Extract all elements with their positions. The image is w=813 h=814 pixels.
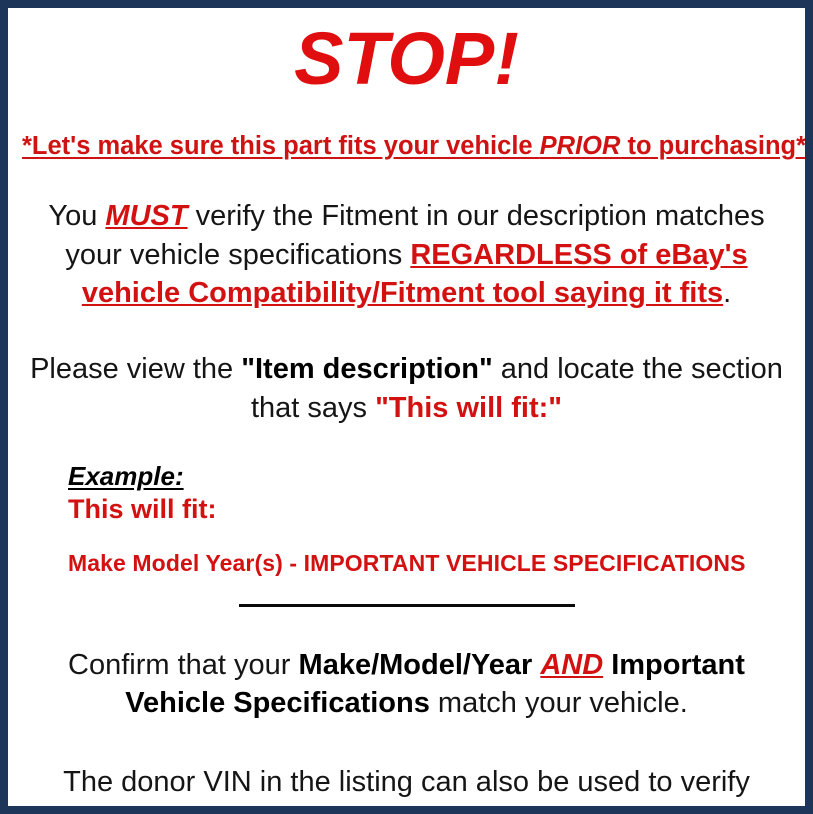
notice-content: STOP! *Let's make sure this part fits yo…	[8, 22, 805, 814]
paragraph-confirm-match: Confirm that your Make/Model/Year AND Im…	[22, 646, 791, 723]
confirm-text-4: match your vehicle.	[430, 687, 688, 719]
view-text-1: Please view the	[30, 353, 241, 385]
emphasis-and: AND	[540, 649, 603, 681]
confirm-text-1: Confirm that your	[68, 649, 298, 681]
example-fit-heading: This will fit:	[68, 493, 791, 525]
emphasis-this-will-fit: "This will fit:"	[375, 392, 562, 424]
paragraph-must-verify: You MUST verify the Fitment in our descr…	[22, 197, 791, 313]
subtitle-text-before: *Let's make sure this part fits your veh…	[22, 132, 540, 160]
fitment-notice-card: STOP! *Let's make sure this part fits yo…	[0, 0, 813, 814]
subtitle-banner: *Let's make sure this part fits your veh…	[22, 132, 791, 161]
emphasis-item-description: "Item description"	[241, 353, 492, 385]
subtitle-text-after: to purchasing*	[620, 132, 806, 160]
confirm-text-3	[603, 649, 611, 681]
example-label: Example:	[68, 461, 791, 492]
emphasis-must: MUST	[105, 200, 187, 232]
stop-title: STOP!	[22, 22, 791, 96]
divider	[22, 604, 791, 607]
divider-rule	[239, 604, 575, 607]
subtitle-emphasis-prior: PRIOR	[540, 132, 621, 160]
paragraph-view-description: Please view the "Item description" and l…	[22, 350, 791, 427]
must-text-3: .	[723, 277, 731, 309]
must-text-1: You	[48, 200, 105, 232]
example-block: Example: This will fit: Make Model Year(…	[22, 461, 791, 578]
emphasis-make-model-year: Make/Model/Year	[299, 649, 533, 681]
example-spec-line: Make Model Year(s) - IMPORTANT VEHICLE S…	[68, 550, 791, 578]
paragraph-donor-vin: The donor VIN in the listing can also be…	[22, 763, 791, 814]
